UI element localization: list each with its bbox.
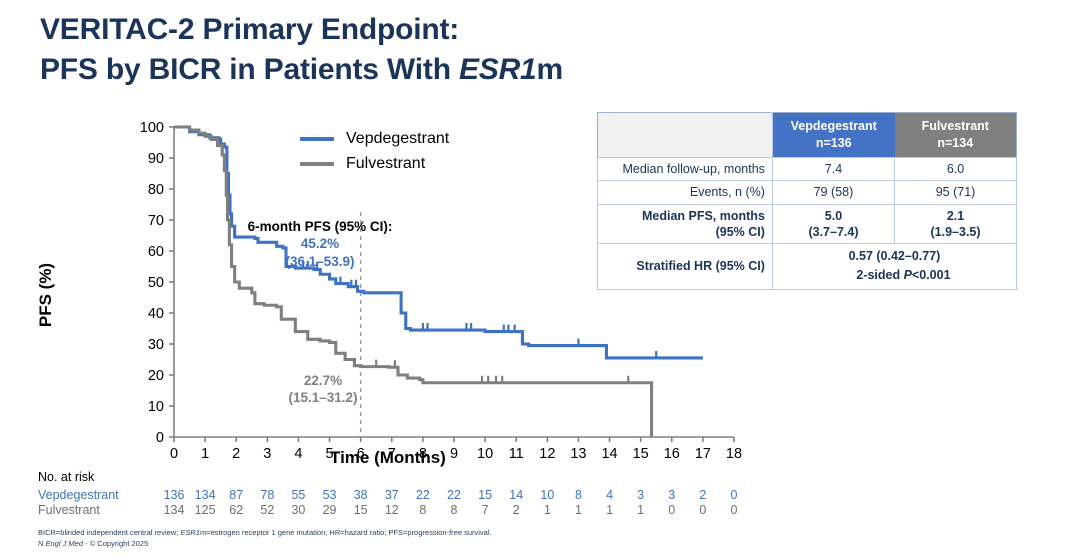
svg-text:2: 2 [232,446,240,462]
svg-text:16: 16 [664,446,680,462]
annotation-vep-ci: (36.1–53.9) [200,253,440,270]
row-value-median-pfs-vep: 5.0 (3.7–7.4) [772,204,894,244]
number-at-risk-value: 38 [348,488,374,502]
svg-text:50: 50 [148,275,164,291]
svg-text:14: 14 [601,446,617,462]
svg-text:90: 90 [148,151,164,167]
number-at-risk-value: 136 [161,488,187,502]
x-axis-title: Time (Months) [330,448,446,468]
number-at-risk-value: 0 [659,503,685,517]
number-at-risk-value: 8 [441,503,467,517]
svg-text:9: 9 [450,446,458,462]
number-at-risk-row-vepdegestrant: Vepdegestrant 13613487785553383722221514… [38,488,758,503]
number-at-risk-value: 22 [410,488,436,502]
number-at-risk-value: 8 [565,488,591,502]
legend-swatch-fulvestrant [300,162,334,166]
number-at-risk-value: 134 [161,503,187,517]
annotation-fulv-ci: (15.1–31.2) [238,389,408,406]
annotation-6month-pfs: 6-month PFS (95% CI): 45.2% (36.1–53.9) [200,218,440,270]
number-at-risk-value: 7 [472,503,498,517]
annotation-fulvestrant-6month: 22.7% (15.1–31.2) [238,372,408,407]
row-label-median-pfs-line2: (95% CI) [605,224,765,240]
results-table: Vepdegestrant n=136 Fulvestrant n=134 Me… [597,112,1017,290]
number-at-risk-value: 52 [254,503,280,517]
footnote-abbreviations: BICR=blinded independent central review;… [38,528,798,539]
legend-item-vepdegestrant: Vepdegestrant [300,126,449,151]
number-at-risk-value: 12 [379,503,405,517]
median-pfs-fulv-ci: (1.9–3.5) [902,224,1009,240]
table-row-median-pfs: Median PFS, months (95% CI) 5.0 (3.7–7.4… [598,204,1017,244]
hr-value: 0.57 (0.42–0.77) [780,247,1009,266]
svg-text:20: 20 [148,368,164,384]
svg-text:0: 0 [156,430,164,446]
row-label-median-pfs: Median PFS, months (95% CI) [598,204,773,244]
number-at-risk-value: 0 [690,503,716,517]
annotation-vep-percent: 45.2% [200,235,440,252]
footnote-journal-italic: N Engl J Med [38,539,83,548]
median-pfs-vep-ci: (3.7–7.4) [780,224,887,240]
title-line-1: VERITAC-2 Primary Endpoint: [40,10,940,50]
table-header-row: Vepdegestrant n=136 Fulvestrant n=134 [598,113,1017,158]
row-value-median-followup-vep: 7.4 [772,158,894,181]
legend-swatch-vepdegestrant [300,137,334,141]
svg-text:30: 30 [148,337,164,353]
number-at-risk-row-fulvestrant: Fulvestrant 1341256252302915128872111100… [38,503,758,518]
table-row-median-followup: Median follow-up, months 7.4 6.0 [598,158,1017,181]
footnote-line1-b: m=estrogen receptor 1 gene mutation; HR=… [200,528,492,537]
number-at-risk-block: No. at risk Vepdegestrant 13613487785553… [38,470,758,518]
number-at-risk-label-vepdegestrant: Vepdegestrant [38,488,119,502]
number-at-risk-value: 29 [317,503,343,517]
svg-text:15: 15 [633,446,649,462]
svg-text:40: 40 [148,306,164,322]
number-at-risk-value: 10 [534,488,560,502]
number-at-risk-value: 22 [441,488,467,502]
number-at-risk-value: 1 [628,503,654,517]
hr-pvalue-suffix: <0.001 [912,268,951,282]
number-at-risk-value: 15 [472,488,498,502]
table-header-fulv-name: Fulvestrant [895,118,1016,135]
row-label-stratified-hr: Stratified HR (95% CI) [598,244,773,290]
footnote-line1-a: BICR=blinded independent central review; [38,528,180,537]
table-row-events: Events, n (%) 79 (58) 95 (71) [598,181,1017,204]
row-value-stratified-hr: 0.57 (0.42–0.77) 2-sided P<0.001 [772,244,1016,290]
table-header-vep-n: n=136 [773,135,895,152]
svg-text:18: 18 [726,446,742,462]
number-at-risk-value: 2 [503,503,529,517]
footnotes: BICR=blinded independent central review;… [38,528,798,550]
svg-text:4: 4 [294,446,302,462]
number-at-risk-value: 2 [690,488,716,502]
svg-text:11: 11 [509,446,524,462]
svg-text:80: 80 [148,182,164,198]
svg-text:17: 17 [695,446,711,462]
row-label-events: Events, n (%) [598,181,773,204]
svg-text:0: 0 [170,446,178,462]
number-at-risk-value: 62 [223,503,249,517]
row-value-events-vep: 79 (58) [772,181,894,204]
number-at-risk-value: 1 [534,503,560,517]
table-header-vepdegestrant: Vepdegestrant n=136 [772,113,894,158]
legend-label-fulvestrant: Fulvestrant [346,155,425,173]
median-pfs-vep-value: 5.0 [780,208,887,224]
table-corner-cell [598,113,773,158]
table-header-vep-name: Vepdegestrant [773,118,895,135]
number-at-risk-value: 125 [192,503,218,517]
svg-text:1: 1 [201,446,209,462]
number-at-risk-value: 15 [348,503,374,517]
number-at-risk-title: No. at risk [38,470,758,484]
table-header-fulvestrant: Fulvestrant n=134 [895,113,1017,158]
svg-text:13: 13 [570,446,586,462]
svg-text:70: 70 [148,213,164,229]
hr-pvalue: 2-sided P<0.001 [780,266,1009,285]
results-table-head: Vepdegestrant n=136 Fulvestrant n=134 [598,113,1017,158]
table-header-fulv-n: n=134 [895,135,1016,152]
median-pfs-fulv-value: 2.1 [902,208,1009,224]
title-line-2-prefix: PFS by BICR in Patients With [40,53,459,86]
number-at-risk-value: 1 [597,503,623,517]
number-at-risk-value: 55 [285,488,311,502]
row-value-median-followup-fulv: 6.0 [895,158,1017,181]
hr-pvalue-p-italic: P [904,268,912,282]
svg-text:3: 3 [263,446,271,462]
footnote-source: N Engl J Med - © Copyright 2025 [38,539,798,550]
legend-item-fulvestrant: Fulvestrant [300,151,449,176]
hr-pvalue-prefix: 2-sided [856,268,903,282]
svg-text:10: 10 [477,446,493,462]
number-at-risk-value: 4 [597,488,623,502]
svg-text:10: 10 [148,399,164,415]
chart-legend: Vepdegestrant Fulvestrant [300,126,449,176]
number-at-risk-value: 1 [565,503,591,517]
number-at-risk-value: 87 [223,488,249,502]
table-row-stratified-hr: Stratified HR (95% CI) 0.57 (0.42–0.77) … [598,244,1017,290]
number-at-risk-value: 3 [659,488,685,502]
title-gene-italic: ESR1 [459,53,537,86]
row-value-events-fulv: 95 (71) [895,181,1017,204]
number-at-risk-value: 8 [410,503,436,517]
number-at-risk-value: 30 [285,503,311,517]
footnote-copyright: - © Copyright 2025 [83,539,148,548]
svg-text:12: 12 [539,446,555,462]
number-at-risk-label-fulvestrant: Fulvestrant [38,503,100,517]
footnote-gene-italic: ESR1 [180,528,200,537]
number-at-risk-value: 0 [721,503,747,517]
number-at-risk-value: 37 [379,488,405,502]
number-at-risk-value: 53 [317,488,343,502]
number-at-risk-value: 3 [628,488,654,502]
title-line-2: PFS by BICR in Patients With ESR1m [40,50,940,90]
svg-text:100: 100 [140,120,164,136]
page-title: VERITAC-2 Primary Endpoint: PFS by BICR … [40,10,940,90]
row-value-median-pfs-fulv: 2.1 (1.9–3.5) [895,204,1017,244]
title-line-2-suffix: m [537,53,563,86]
number-at-risk-value: 14 [503,488,529,502]
annotation-6month-header: 6-month PFS (95% CI): [200,218,440,235]
number-at-risk-value: 0 [721,488,747,502]
number-at-risk-value: 134 [192,488,218,502]
legend-label-vepdegestrant: Vepdegestrant [346,130,449,148]
annotation-fulv-percent: 22.7% [238,372,408,389]
row-label-median-pfs-line1: Median PFS, months [605,208,765,224]
results-table-body: Median follow-up, months 7.4 6.0 Events,… [598,158,1017,290]
svg-text:60: 60 [148,244,164,260]
number-at-risk-value: 78 [254,488,280,502]
y-axis-title: PFS (%) [36,225,56,365]
row-label-median-followup: Median follow-up, months [598,158,773,181]
